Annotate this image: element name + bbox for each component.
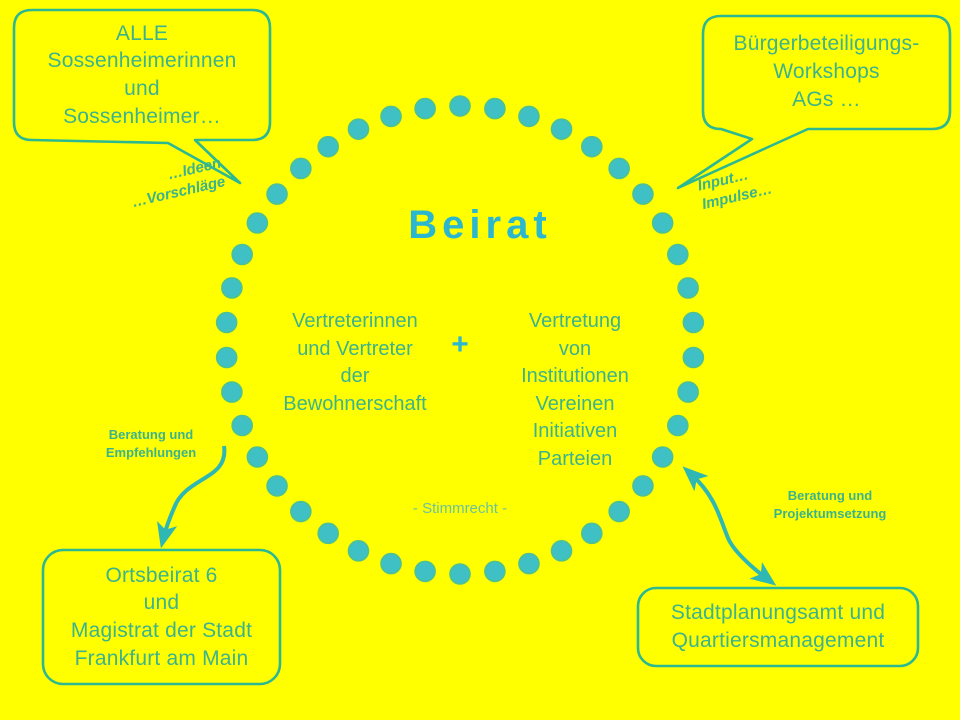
- circle-right-column: Vertretung von Institutionen Vereinen In…: [482, 308, 668, 474]
- bubble-alle-line-3: und: [124, 75, 160, 103]
- circle-dot: [381, 106, 401, 126]
- speech-bubble-workshops[interactable]: Bürgerbeteiligungs- Workshops AGs …: [703, 16, 950, 128]
- box-stadtplanung[interactable]: Stadtplanungsamt und Quartiersmanagement: [638, 588, 918, 666]
- circle-left-column: Vertreterinnen und Vertreter der Bewohne…: [262, 308, 448, 418]
- left-col-line-4: Bewohnerschaft: [262, 391, 448, 419]
- circle-dot: [485, 99, 505, 119]
- box-stadtplanung-line-2: Quartiersmanagement: [672, 627, 885, 655]
- annotation-beratung-projekt-line-2: Projektumsetzung: [735, 505, 925, 523]
- bubble-workshops-line-2: Workshops: [773, 58, 879, 86]
- annotation-beratung-empfehlungen-line-1: Beratung und: [62, 426, 240, 444]
- circle-dot: [247, 447, 267, 467]
- circle-dot: [381, 554, 401, 574]
- circle-dot: [318, 523, 338, 543]
- circle-dot: [552, 119, 572, 139]
- box-ortsbeirat-line-1: Ortsbeirat 6: [105, 562, 217, 590]
- annotation-beratung-projektumsetzung: Beratung und Projektumsetzung: [735, 487, 925, 522]
- left-col-line-2: und Vertreter: [262, 336, 448, 364]
- right-col-line-5: Initiativen: [482, 418, 668, 446]
- bubble-workshops-line-1: Bürgerbeteiligungs-: [734, 30, 920, 58]
- bubble-alle-line-1: ALLE: [116, 20, 168, 48]
- speech-bubble-alle[interactable]: ALLE Sossenheimerinnen und Sossenheimer…: [14, 10, 270, 140]
- box-ortsbeirat-line-3: Magistrat der Stadt: [71, 617, 252, 645]
- circle-dot: [291, 158, 311, 178]
- circle-dot: [633, 184, 653, 204]
- circle-dot: [668, 415, 688, 435]
- circle-dot: [678, 278, 698, 298]
- annotation-beratung-empfehlungen: Beratung und Empfehlungen: [62, 426, 240, 461]
- right-col-line-3: Institutionen: [482, 363, 668, 391]
- bubble-workshops-line-3: AGs …: [792, 86, 861, 114]
- left-col-line-3: der: [262, 363, 448, 391]
- circle-dot: [415, 561, 435, 581]
- box-ortsbeirat[interactable]: Ortsbeirat 6 und Magistrat der Stadt Fra…: [43, 550, 280, 684]
- circle-dot: [217, 347, 237, 367]
- circle-dot: [552, 541, 572, 561]
- right-col-line-1: Vertretung: [482, 308, 668, 336]
- footnote-stimmrecht: - Stimmrecht -: [340, 500, 580, 517]
- bubble-alle-line-4: Sossenheimer…: [63, 103, 221, 131]
- left-col-line-1: Vertreterinnen: [262, 308, 448, 336]
- circle-dot: [633, 476, 653, 496]
- circle-dot: [678, 382, 698, 402]
- circle-dot: [683, 313, 703, 333]
- circle-dot: [450, 96, 470, 116]
- box-ortsbeirat-line-4: Frankfurt am Main: [75, 645, 249, 673]
- circle-dot: [267, 476, 287, 496]
- circle-dot: [519, 554, 539, 574]
- circle-dot: [267, 184, 287, 204]
- right-col-line-2: von: [482, 336, 668, 364]
- circle-dot: [222, 278, 242, 298]
- box-ortsbeirat-line-2: und: [144, 589, 180, 617]
- circle-dot: [609, 502, 629, 522]
- circle-dot: [222, 382, 242, 402]
- circle-dot: [485, 561, 505, 581]
- circle-dot: [348, 119, 368, 139]
- circle-dot: [582, 137, 602, 157]
- circle-dot: [450, 564, 470, 584]
- circle-dot: [348, 541, 368, 561]
- right-col-line-6: Parteien: [482, 446, 668, 474]
- annotation-beratung-projekt-line-1: Beratung und: [735, 487, 925, 505]
- circle-dot: [683, 347, 703, 367]
- diagram-canvas: ALLE Sossenheimerinnen und Sossenheimer……: [0, 0, 960, 720]
- bubble-alle-line-2: Sossenheimerinnen: [47, 47, 236, 75]
- circle-dot: [217, 313, 237, 333]
- circle-dot: [609, 158, 629, 178]
- right-col-line-4: Vereinen: [482, 391, 668, 419]
- circle-dot: [582, 523, 602, 543]
- circle-dot: [291, 502, 311, 522]
- plus-icon: +: [440, 330, 480, 360]
- circle-dot: [519, 106, 539, 126]
- box-stadtplanung-line-1: Stadtplanungsamt und: [671, 599, 885, 627]
- circle-dot: [318, 137, 338, 157]
- circle-dot: [415, 99, 435, 119]
- annotation-beratung-empfehlungen-line-2: Empfehlungen: [62, 444, 240, 462]
